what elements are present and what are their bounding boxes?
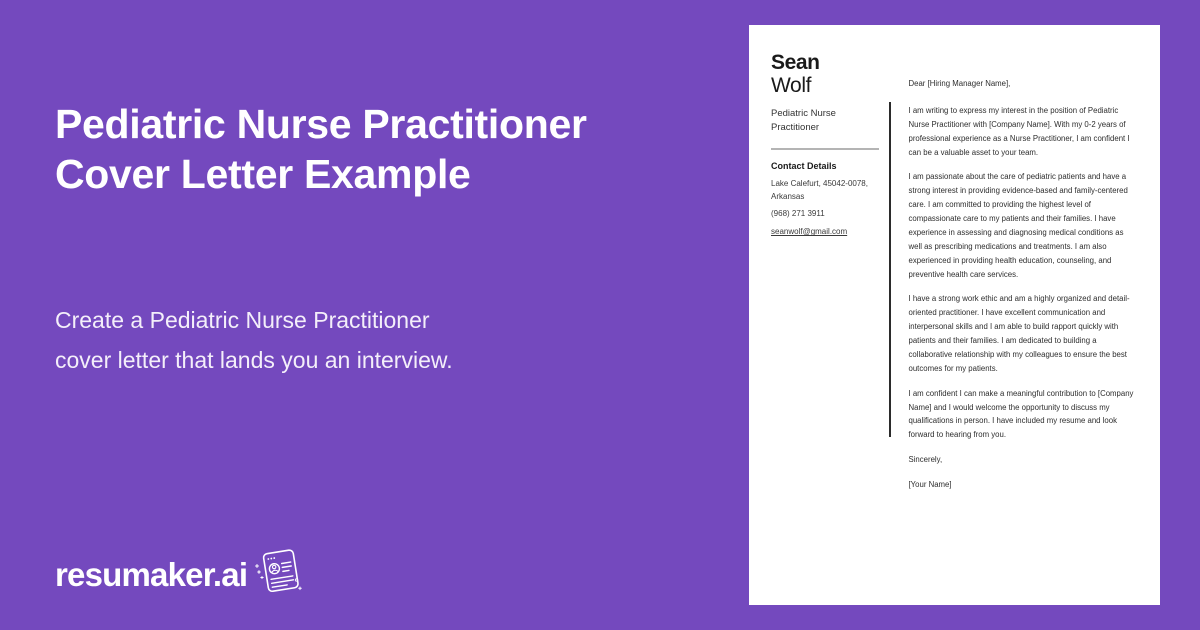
letter-paragraph: I am writing to express my interest in t…	[909, 104, 1139, 160]
letter-paragraph: I am passionate about the care of pediat…	[909, 170, 1139, 281]
letter-body: Dear [Hiring Manager Name], I am writing…	[909, 52, 1139, 605]
applicant-last-name: Wolf	[771, 75, 879, 98]
letter-paragraph: I have a strong work ethic and am a high…	[909, 292, 1139, 375]
promo-subtext: Create a Pediatric Nurse Practitioner co…	[55, 300, 475, 381]
letterhead-divider	[771, 148, 879, 150]
resume-document-icon	[249, 546, 305, 598]
contact-address: Lake Calefurt, 45042-0078, Arkansas	[771, 178, 879, 204]
contact-email[interactable]: seanwolf@gmail.com	[771, 226, 879, 239]
applicant-first-name: Sean	[771, 52, 879, 75]
letter-paragraph: I am confident I can make a meaningful c…	[909, 387, 1139, 443]
applicant-name: Sean Wolf	[771, 52, 879, 97]
contact-phone: (968) 271 3911	[771, 208, 879, 221]
logo-wordmark: resumaker.ai	[55, 558, 247, 591]
brand-logo[interactable]: resumaker.ai	[55, 548, 305, 600]
letter-closing: Sincerely,	[909, 453, 1139, 467]
page-title: Pediatric Nurse Practitioner Cover Lette…	[55, 99, 675, 199]
contact-details-heading: Contact Details	[771, 161, 879, 171]
letter-salutation: Dear [Hiring Manager Name],	[909, 77, 1139, 91]
letterhead-column: Sean Wolf Pediatric Nurse Practitioner C…	[771, 52, 889, 605]
promo-panel: Pediatric Nurse Practitioner Cover Lette…	[0, 0, 748, 630]
column-divider	[889, 102, 891, 437]
applicant-role: Pediatric Nurse Practitioner	[771, 107, 879, 135]
cover-letter-preview[interactable]: Sean Wolf Pediatric Nurse Practitioner C…	[749, 25, 1160, 605]
letter-signature: [Your Name]	[909, 478, 1139, 492]
